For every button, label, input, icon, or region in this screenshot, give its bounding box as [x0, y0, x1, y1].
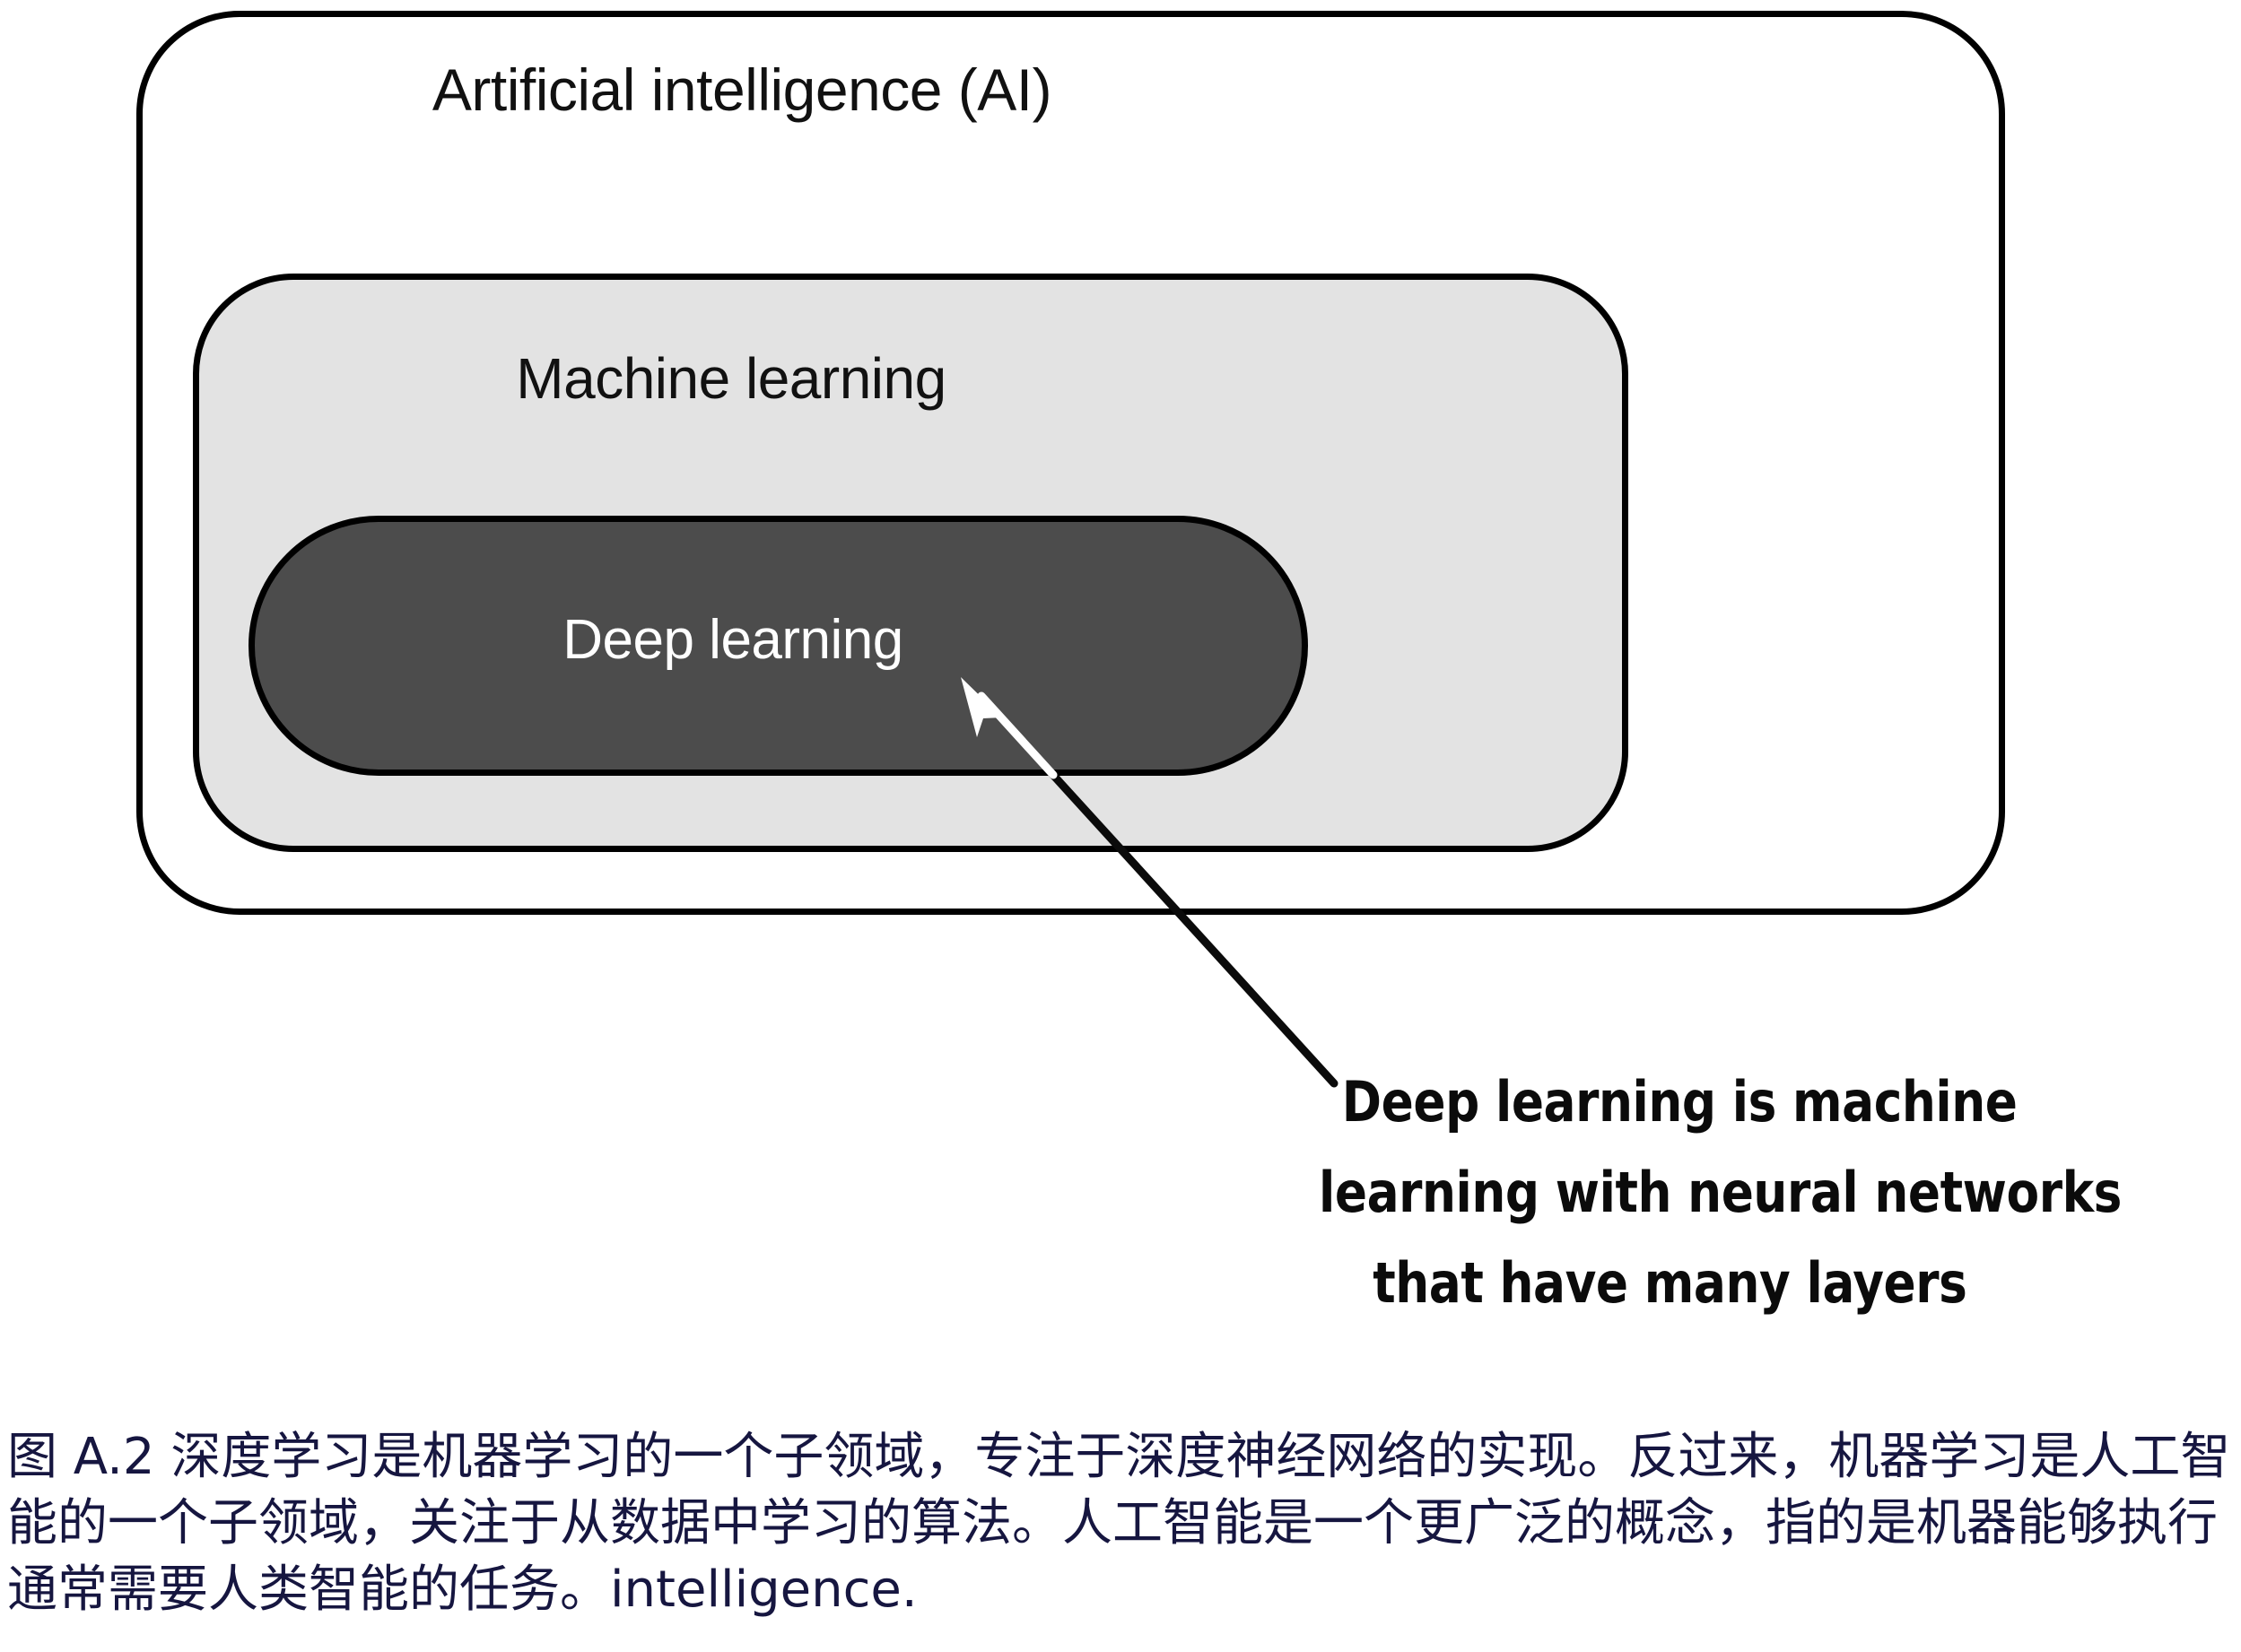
figure-caption: 图 A.2 深度学习是机器学习的一个子领域，专注于深度神经网络的实现。反过来，机…	[7, 1424, 2239, 1623]
annotation-line-1: Deep learning is machine	[1319, 1056, 2060, 1147]
annotation-line-2: learning with neural networks	[1319, 1147, 2060, 1238]
caption-line-1: 图 A.2 深度学习是机器学习的一个子领域，专注于深度神经网络的实现。反过来，机…	[7, 1424, 2239, 1491]
caption-line-2: 能的一个子领域，关注于从数据中学习的算法。人工智能是一个更广泛的概念，指的是机器…	[7, 1491, 2239, 1557]
artificial-intelligence-label: Artificial intelligence (AI)	[136, 56, 1347, 124]
caption-line-3: 通常需要人类智能的任务。intelligence.	[7, 1557, 2239, 1623]
annotation-text-block: Deep learning is machine learning with n…	[1319, 1056, 2060, 1328]
annotation-line-3: that have many layers	[1319, 1238, 2060, 1328]
deep-learning-label: Deep learning	[249, 608, 1217, 672]
machine-learning-label: Machine learning	[193, 345, 1269, 412]
figure-page: Artificial intelligence (AI) Machine lea…	[0, 0, 2241, 1652]
